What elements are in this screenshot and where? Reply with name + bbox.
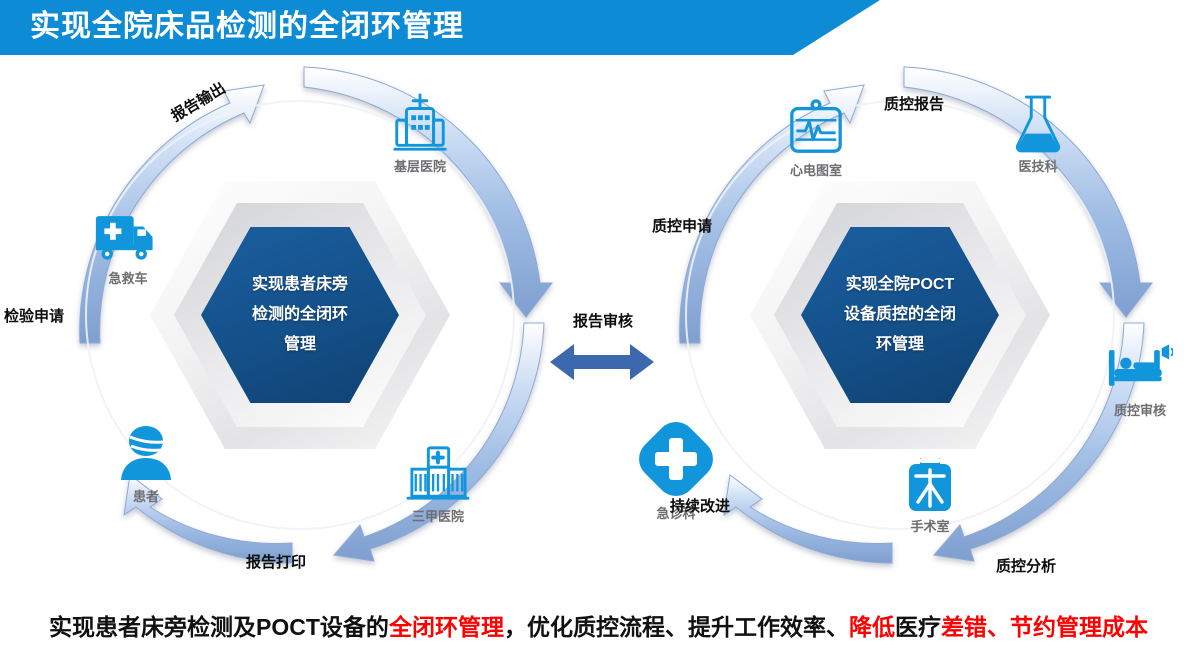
node-medical-tech[interactable]: 医技科: [978, 93, 1098, 175]
node-qc-review-bed[interactable]: 质控审核: [1080, 337, 1197, 419]
hospital-bed-icon: [1080, 337, 1197, 399]
hospital-tertiary-icon: [378, 443, 498, 505]
node-label: 质控审核: [1080, 400, 1197, 419]
step-qc-review: [1120, 453, 1124, 470]
caption-highlight-3: 差错、节约管理成本: [941, 614, 1148, 640]
hex-line: 实现患者床旁: [205, 270, 395, 300]
right-hexagon: 实现全院POCT 设备质控的全闭 环管理: [750, 165, 1050, 465]
node-label: 急救车: [68, 268, 188, 287]
node-ecg-room[interactable]: 心电图室: [756, 97, 876, 179]
node-primary-hospital[interactable]: 基层医院: [360, 93, 480, 175]
node-patient[interactable]: 患者: [86, 423, 206, 505]
step-qc-report: 质控报告: [884, 93, 944, 114]
step-continuous-improvement: 持续改进: [670, 495, 730, 516]
bidirectional-arrow-icon: [550, 340, 654, 384]
flask-icon: [978, 93, 1098, 155]
node-label: 医技科: [978, 156, 1098, 175]
hex-line: 设备质控的全闭: [805, 300, 995, 330]
step-qc-request: 质控申请: [652, 215, 712, 236]
caption-seg-3: 医疗: [895, 614, 941, 640]
left-hexagon: 实现患者床旁 检测的全闭环 管理: [150, 165, 450, 465]
step-report-print: 报告打印: [246, 551, 306, 572]
footer-caption: 实现患者床旁检测及POCT设备的全闭环管理，优化质控流程、提升工作效率、降低医疗…: [0, 608, 1197, 642]
page-title: 实现全院床品检测的全闭环管理: [30, 5, 464, 49]
node-label: 三甲医院: [378, 506, 498, 525]
step-qc-analysis: 质控分析: [996, 555, 1056, 576]
hex-line: 检测的全闭环: [205, 300, 395, 330]
ecg-monitor-icon: [756, 97, 876, 159]
diagram-stage: 实现患者床旁 检测的全闭环 管理 基层医: [0, 55, 1197, 600]
left-hexagon-text: 实现患者床旁 检测的全闭环 管理: [205, 270, 395, 360]
node-label: 手术室: [870, 516, 990, 535]
hex-line: 实现全院POCT: [805, 270, 995, 300]
caption-seg-1: 实现患者床旁检测及POCT设备的: [49, 614, 389, 640]
node-operating-room[interactable]: 手术室: [870, 453, 990, 535]
hex-line: 管理: [205, 330, 395, 360]
caption-highlight-1: 全闭环管理: [389, 614, 504, 640]
caption-highlight-2: 降低: [849, 614, 895, 640]
hex-line: 环管理: [805, 330, 995, 360]
node-tertiary-hospital[interactable]: 三甲医院: [378, 443, 498, 525]
caption-seg-2: ，优化质控流程、提升工作效率、: [504, 614, 849, 640]
node-label: 心电图室: [756, 160, 876, 179]
right-hexagon-text: 实现全院POCT 设备质控的全闭 环管理: [805, 270, 995, 360]
node-label: 基层医院: [360, 156, 480, 175]
ambulance-icon: [68, 205, 188, 267]
node-ambulance[interactable]: 急救车: [68, 205, 188, 287]
operating-room-icon: [870, 453, 990, 515]
step-test-request: 检验申请: [4, 305, 64, 326]
node-label: 患者: [86, 486, 206, 505]
hospital-building-icon: [360, 93, 480, 155]
patient-icon: [86, 423, 206, 485]
left-cycle-diagram: 实现患者床旁 检测的全闭环 管理 基层医: [40, 55, 560, 575]
